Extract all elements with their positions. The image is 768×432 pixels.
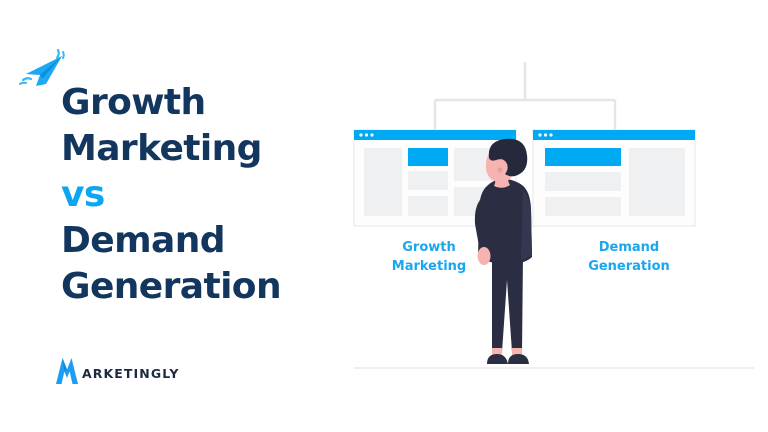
browser-dot xyxy=(549,133,552,136)
browser-window-demand-generation xyxy=(533,130,695,226)
browser-dot xyxy=(544,133,547,136)
browser-label-growth-marketing: Growth Marketing xyxy=(364,238,494,276)
block-mid-bottom xyxy=(408,196,448,216)
browser-title-bar xyxy=(354,130,516,140)
block-left-tall xyxy=(364,148,402,216)
bar-bottom xyxy=(545,197,621,216)
ear xyxy=(497,167,502,172)
browser-dot xyxy=(370,133,373,136)
headline-line-1: Growth xyxy=(61,80,331,126)
slide-canvas: Growth Marketing vs Demand Generation AR… xyxy=(0,0,768,432)
browser-label-demand-generation: Demand Generation xyxy=(564,238,694,276)
label-line-2: Generation xyxy=(564,257,694,276)
bar-top xyxy=(545,148,621,166)
bar-middle xyxy=(545,172,621,191)
headline-line-5: Generation xyxy=(61,264,331,310)
left-text-panel: Growth Marketing vs Demand Generation AR… xyxy=(0,0,340,432)
block-mid-middle xyxy=(408,171,448,190)
shoe-right xyxy=(508,354,529,364)
headline-line-vs: vs xyxy=(61,172,331,218)
headline-line-2: Marketing xyxy=(61,126,331,172)
browser-dot xyxy=(365,133,368,136)
illustration-svg xyxy=(340,0,768,432)
logo-wordmark: ARKETINGLY xyxy=(82,362,180,381)
headline-line-4: Demand xyxy=(61,218,331,264)
label-line-1: Growth xyxy=(364,238,494,257)
page-title: Growth Marketing vs Demand Generation xyxy=(61,80,331,310)
label-line-1: Demand xyxy=(564,238,694,257)
browser-title-bar xyxy=(533,130,695,140)
connector-tree xyxy=(435,62,615,132)
browser-dot xyxy=(359,133,362,136)
shoe-left xyxy=(487,354,508,364)
label-line-2: Marketing xyxy=(364,257,494,276)
block-right-tall xyxy=(629,148,685,216)
marketingly-m-mark xyxy=(50,356,84,386)
browser-dot xyxy=(538,133,541,136)
marketingly-logo: ARKETINGLY xyxy=(50,355,180,387)
illustration-comparison-scene: Growth Marketing Demand Generation xyxy=(340,0,768,432)
block-mid-top xyxy=(408,148,448,166)
